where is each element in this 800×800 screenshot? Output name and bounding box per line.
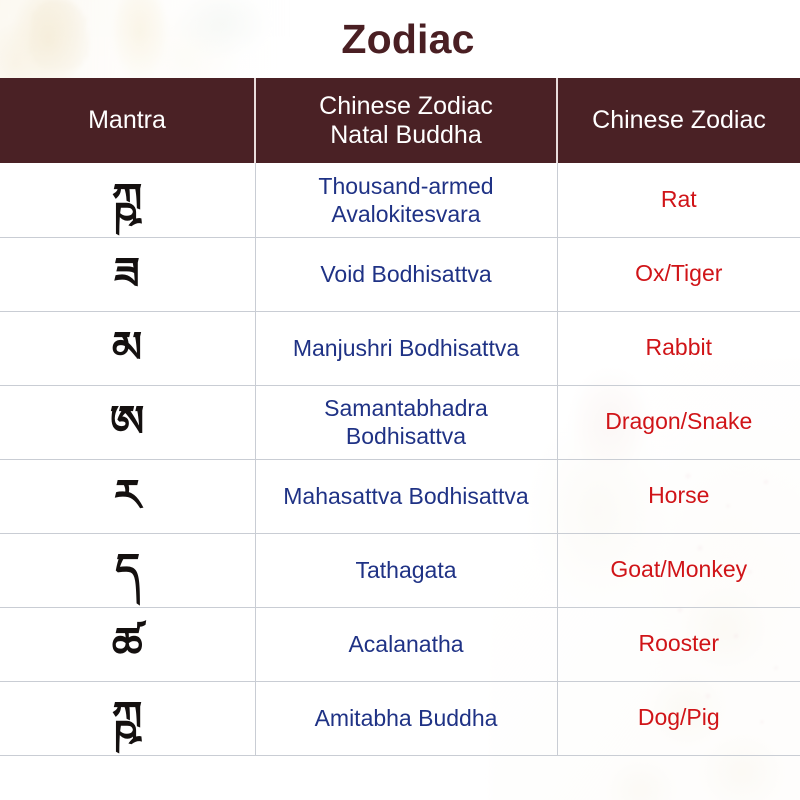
cell-mantra: ཀྵ xyxy=(0,163,255,237)
column-header-mantra: Mantra xyxy=(0,78,255,163)
cell-natal-buddha: Acalanatha xyxy=(255,607,557,681)
column-header-natal-buddha-line-1: Chinese Zodiac xyxy=(262,92,550,121)
table-row: ར Mahasattva Bodhisattva Horse xyxy=(0,459,800,533)
table-body: ཀྵ Thousand-armed Avalokitesvara Rat ཟ Vo… xyxy=(0,163,800,755)
cell-natal-buddha: Samantabhadra Bodhisattva xyxy=(255,385,557,459)
cell-natal-buddha: Mahasattva Bodhisattva xyxy=(255,459,557,533)
siddham-seed-syllable-sa-icon: ར xyxy=(114,474,141,517)
cell-chinese-zodiac: Horse xyxy=(557,459,800,533)
siddham-seed-syllable-am-icon: ཨ xyxy=(110,400,145,443)
table-row: ད Tathagata Goat/Monkey xyxy=(0,533,800,607)
cell-chinese-zodiac: Rooster xyxy=(557,607,800,681)
footer-space xyxy=(0,756,800,800)
column-header-natal-buddha: Chinese Zodiac Natal Buddha xyxy=(255,78,557,163)
table-header-row: Mantra Chinese Zodiac Natal Buddha Chine… xyxy=(0,78,800,163)
siddham-seed-syllable-ham-icon: ཚ xyxy=(112,622,143,665)
natal-buddha-line-1: Manjushri Bodhisattva xyxy=(264,334,549,362)
natal-buddha-line-1: Mahasattva Bodhisattva xyxy=(264,482,549,510)
natal-buddha-line-2: Avalokitesvara xyxy=(264,200,549,228)
table-row: ཚ Acalanatha Rooster xyxy=(0,607,800,681)
cell-chinese-zodiac: Goat/Monkey xyxy=(557,533,800,607)
cell-natal-buddha: Amitabha Buddha xyxy=(255,681,557,755)
table-row: ཟ Void Bodhisattva Ox/Tiger xyxy=(0,237,800,311)
cell-chinese-zodiac: Ox/Tiger xyxy=(557,237,800,311)
column-header-mantra-line-1: Mantra xyxy=(6,106,248,135)
siddham-seed-syllable-man-icon: མ xyxy=(112,326,142,369)
cell-chinese-zodiac: Dragon/Snake xyxy=(557,385,800,459)
cell-mantra: ད xyxy=(0,533,255,607)
natal-buddha-line-2: Bodhisattva xyxy=(264,422,549,450)
cell-chinese-zodiac: Dog/Pig xyxy=(557,681,800,755)
cell-natal-buddha: Void Bodhisattva xyxy=(255,237,557,311)
natal-buddha-line-1: Thousand-armed xyxy=(264,172,549,200)
table-row: མ Manjushri Bodhisattva Rabbit xyxy=(0,311,800,385)
cell-mantra: མ xyxy=(0,311,255,385)
siddham-seed-syllable-trah-icon: ཟ xyxy=(114,252,140,295)
zodiac-table: Mantra Chinese Zodiac Natal Buddha Chine… xyxy=(0,78,800,756)
column-header-chinese-zodiac-line-1: Chinese Zodiac xyxy=(564,106,794,135)
zodiac-infographic: Zodiac Mantra Chinese Zodiac Natal Buddh… xyxy=(0,0,800,800)
cell-natal-buddha: Tathagata xyxy=(255,533,557,607)
natal-buddha-line-1: Amitabha Buddha xyxy=(264,704,549,732)
natal-buddha-line-1: Acalanatha xyxy=(264,630,549,658)
cell-natal-buddha: Thousand-armed Avalokitesvara xyxy=(255,163,557,237)
natal-buddha-line-1: Tathagata xyxy=(264,556,549,584)
cell-natal-buddha: Manjushri Bodhisattva xyxy=(255,311,557,385)
column-header-chinese-zodiac: Chinese Zodiac xyxy=(557,78,800,163)
cell-mantra: ར xyxy=(0,459,255,533)
natal-buddha-line-1: Samantabhadra xyxy=(264,394,549,422)
cell-mantra: ཚ xyxy=(0,607,255,681)
cell-mantra: ཟ xyxy=(0,237,255,311)
siddham-seed-syllable-hrih-amitabha-icon: ཀྵ xyxy=(112,696,142,739)
table-header: Mantra Chinese Zodiac Natal Buddha Chine… xyxy=(0,78,800,163)
cell-chinese-zodiac: Rabbit xyxy=(557,311,800,385)
title-area: Zodiac xyxy=(0,0,800,78)
siddham-seed-syllable-hrih-icon: ཀྵ xyxy=(112,178,142,221)
natal-buddha-line-1: Void Bodhisattva xyxy=(264,260,549,288)
table-row: ཨ Samantabhadra Bodhisattva Dragon/Snake xyxy=(0,385,800,459)
column-header-natal-buddha-line-2: Natal Buddha xyxy=(262,121,550,150)
cell-mantra: ཨ xyxy=(0,385,255,459)
table-row: ཀྵ Thousand-armed Avalokitesvara Rat xyxy=(0,163,800,237)
cell-chinese-zodiac: Rat xyxy=(557,163,800,237)
cell-mantra: ཀྵ xyxy=(0,681,255,755)
page-title: Zodiac xyxy=(341,19,474,60)
table-row: ཀྵ Amitabha Buddha Dog/Pig xyxy=(0,681,800,755)
siddham-seed-syllable-vam-icon: ད xyxy=(115,548,140,591)
